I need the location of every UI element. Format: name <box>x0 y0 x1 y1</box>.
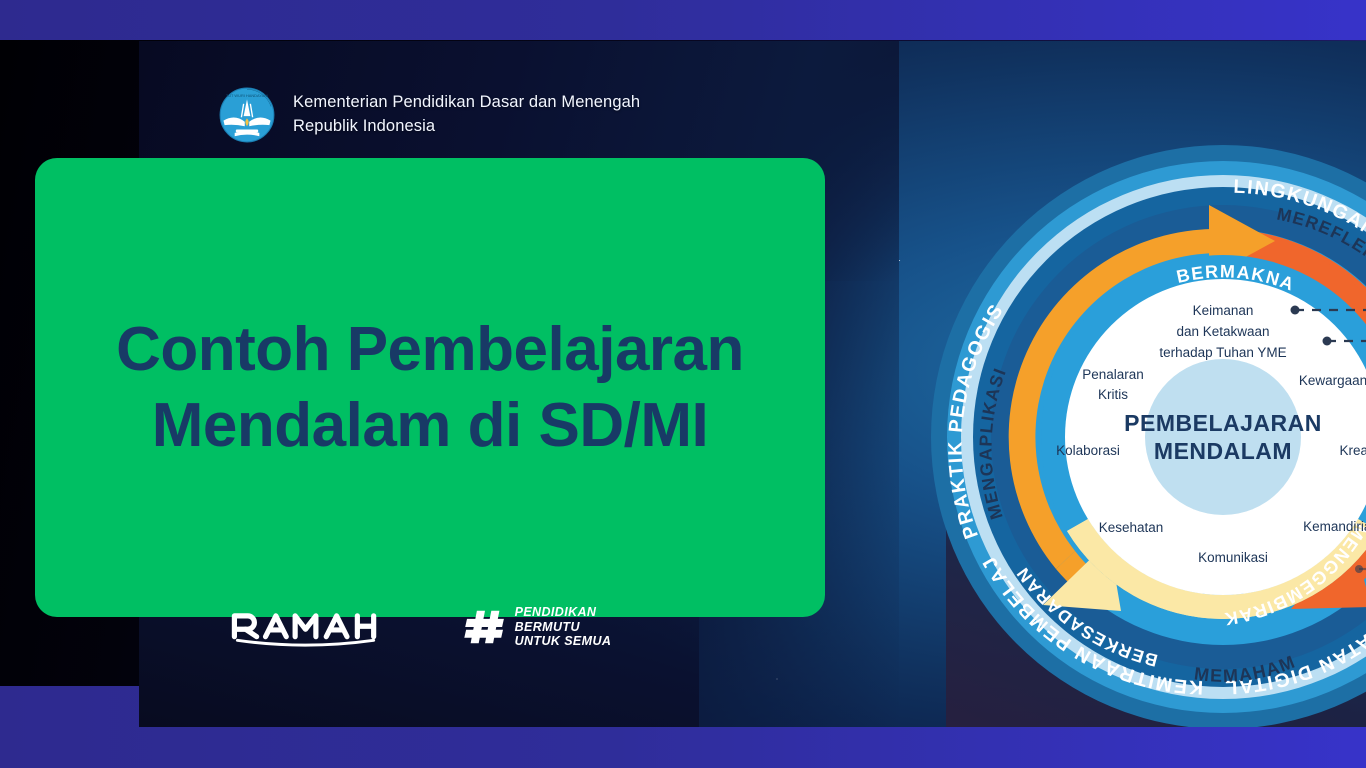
svg-text:TUT WURI HANDAYANI: TUT WURI HANDAYANI <box>226 93 268 98</box>
dimension-komunikasi: Komunikasi <box>1198 550 1268 565</box>
ministry-name-line1: Kementerian Pendidikan Dasar dan Menenga… <box>293 91 640 115</box>
dimension-kesehatan: Kesehatan <box>1099 520 1164 535</box>
ministry-name: Kementerian Pendidikan Dasar dan Menenga… <box>293 91 640 139</box>
ramah-logo-icon <box>227 607 420 647</box>
tut-wuri-handayani-logo-icon: TUT WURI HANDAYANI <box>219 87 275 143</box>
page-title-line2: Mendalam di SD/MI <box>116 388 744 464</box>
slide-header: TUT WURI HANDAYANI Kementerian Pendidika… <box>219 87 640 143</box>
dimension-keimanan: Keimanan <box>1193 303 1254 318</box>
hashtag-icon <box>464 609 506 645</box>
ministry-name-line2: Republik Indonesia <box>293 115 640 139</box>
dimension-kewargaan: Kewargaan <box>1299 373 1366 388</box>
pembelajaran-mendalam-diagram: PRAKTIK PEDAGOGIS LINGKUNGAN PEMBELAJARA… <box>923 137 1366 727</box>
dimension-kreativitas: Kreativitas <box>1339 443 1366 458</box>
core-label-line2: MENDALAM <box>1154 438 1292 464</box>
hashtag-tagline: PENDIDIKAN BERMUTU UNTUK SEMUA <box>515 605 612 649</box>
page-title-line1: Contoh Pembelajaran <box>116 315 744 384</box>
tagline-line1: PENDIDIKAN <box>515 605 612 620</box>
footer-logo-row: PENDIDIKAN BERMUTU UNTUK SEMUA <box>227 605 611 649</box>
dimension-kemandirian: Kemandirian <box>1303 519 1366 534</box>
dimension-tuhan-yme: terhadap Tuhan YME <box>1159 345 1286 360</box>
dimension-kritis: Kritis <box>1098 387 1128 402</box>
dimension-kolaborasi: Kolaborasi <box>1056 443 1120 458</box>
page-title: Contoh Pembelajaran Mendalam di SD/MI <box>116 312 744 463</box>
tagline-line2: BERMUTU <box>515 620 612 635</box>
core-label-line1: PEMBELAJARAN <box>1124 410 1322 436</box>
dimension-penalaran: Penalaran <box>1082 367 1144 382</box>
hashtag-lockup: PENDIDIKAN BERMUTU UNTUK SEMUA <box>464 605 612 649</box>
title-card: Contoh Pembelajaran Mendalam di SD/MI <box>35 158 825 617</box>
tagline-line3: UNTUK SEMUA <box>515 634 612 649</box>
slide-stage: TUT WURI HANDAYANI Kementerian Pendidika… <box>0 0 1366 768</box>
frame-band-top <box>0 0 1366 40</box>
diagram-svg: PRAKTIK PEDAGOGIS LINGKUNGAN PEMBELAJARA… <box>923 137 1366 727</box>
dimension-ketakwaan: dan Ketakwaan <box>1176 324 1269 339</box>
core-circle <box>1145 359 1301 515</box>
